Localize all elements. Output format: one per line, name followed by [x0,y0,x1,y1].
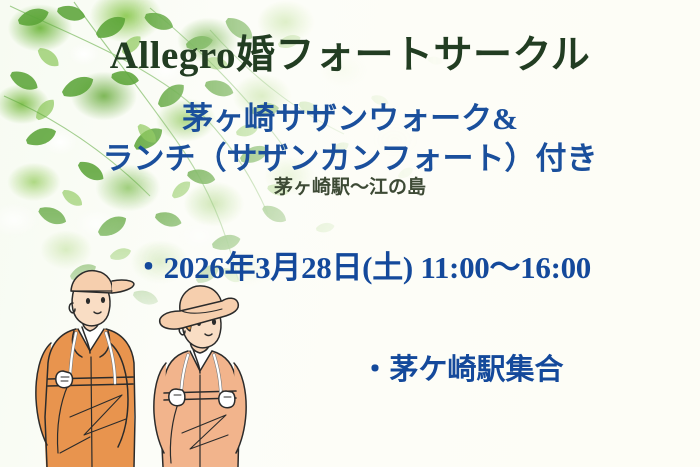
hiker-illustration [30,267,300,467]
subtitle-line-1: 茅ヶ崎サザンウォーク& [0,103,700,134]
route-text: 茅ヶ崎駅〜江の島 [0,178,700,197]
page-title: Allegro婚フォートサークル [0,36,700,75]
subtitle-line-2: ランチ（サザンカンフォート）付き [0,143,700,174]
female-hiker-icon [154,286,246,467]
male-hiker-icon [36,271,135,467]
meeting-point-text: ・茅ケ崎駅集合 [360,356,563,385]
event-flyer: Allegro婚フォートサークル 茅ヶ崎サザンウォーク& ランチ（サザンカンフォ… [0,0,700,467]
